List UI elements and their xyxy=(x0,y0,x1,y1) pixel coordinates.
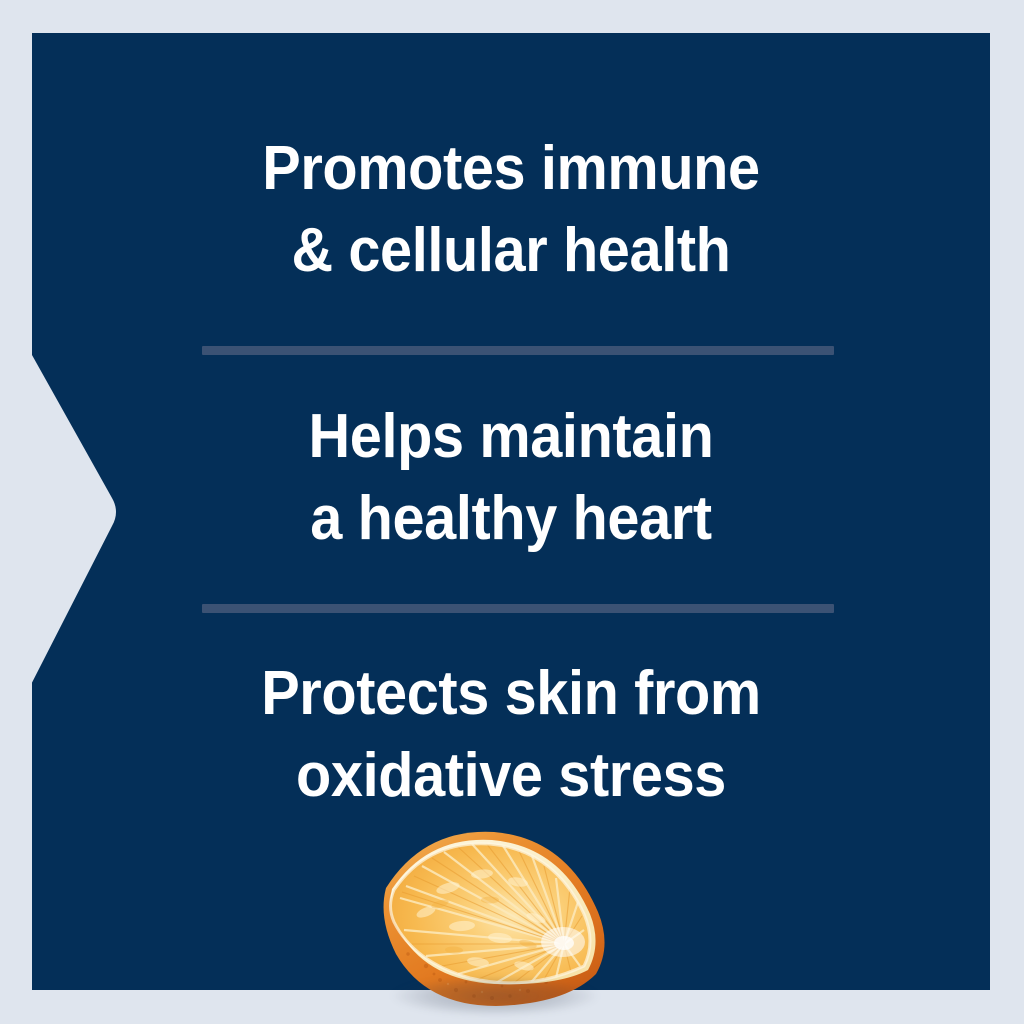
orange-wedge-image xyxy=(378,826,610,1018)
benefit-divider-1 xyxy=(202,346,834,355)
orange-drop-shadow xyxy=(392,976,598,1016)
promo-card: Promotes immune & cellular health Helps … xyxy=(0,0,1024,1024)
benefit-divider-2 xyxy=(202,604,834,613)
benefit-text-healthy-heart: Helps maintain a healthy heart xyxy=(66,396,957,560)
benefit-text-immune-cellular: Promotes immune & cellular health xyxy=(66,128,957,292)
benefit-text-oxidative-stress: Protects skin from oxidative stress xyxy=(66,653,957,817)
